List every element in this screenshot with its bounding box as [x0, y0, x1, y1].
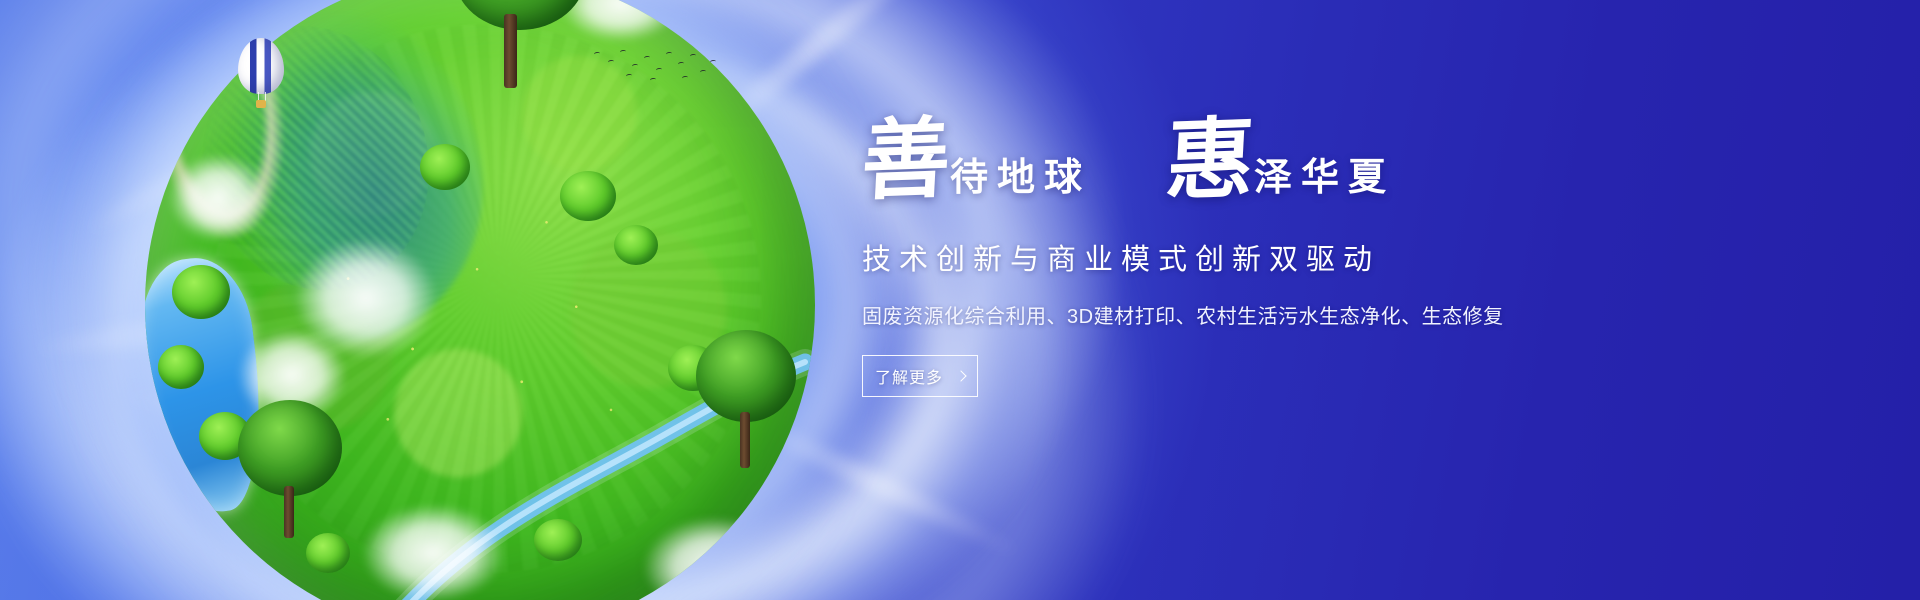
balloon-basket [256, 100, 266, 108]
bird-flock [592, 48, 722, 90]
planet-cloud [158, 144, 279, 251]
planet-cloud [346, 493, 520, 600]
large-tree [448, 0, 598, 112]
headline-big-char-1: 善 [860, 116, 953, 207]
balloon-envelope [238, 38, 284, 94]
banner-description: 固废资源化综合利用、3D建材打印、农村生活污水生态净化、生态修复 [862, 300, 1862, 329]
page-title: 善待地球 惠泽华夏 [862, 118, 1862, 222]
banner-content: 善待地球 惠泽华夏 技术创新与商业模式创新双驱动 固废资源化综合利用、3D建材打… [862, 118, 1862, 397]
headline-small-chars-1: 待地球 [950, 146, 1091, 201]
headline-big-char-2: 惠 [1164, 116, 1257, 207]
tree-canopy [158, 345, 204, 389]
chevron-right-icon [955, 370, 966, 381]
tree-canopy [560, 171, 616, 221]
learn-more-label: 了解更多 [875, 364, 943, 388]
headline-small-chars-2: 泽华夏 [1254, 146, 1395, 201]
tree-canopy [172, 265, 230, 319]
headline-group-2: 惠泽华夏 [1166, 118, 1395, 206]
tree-canopy [420, 144, 470, 190]
tree-canopy [534, 519, 582, 561]
side-tree [238, 400, 358, 540]
planet-cloud [279, 225, 453, 372]
learn-more-button[interactable]: 了解更多 [862, 355, 978, 397]
tree-canopy [614, 225, 658, 265]
hot-air-balloon [238, 38, 288, 114]
hero-banner: 善待地球 惠泽华夏 技术创新与商业模式创新双驱动 固废资源化综合利用、3D建材打… [0, 0, 1920, 600]
side-tree [690, 330, 810, 480]
headline-group-1: 善待地球 [862, 118, 1091, 206]
banner-subtitle: 技术创新与商业模式创新双驱动 [862, 236, 1862, 278]
